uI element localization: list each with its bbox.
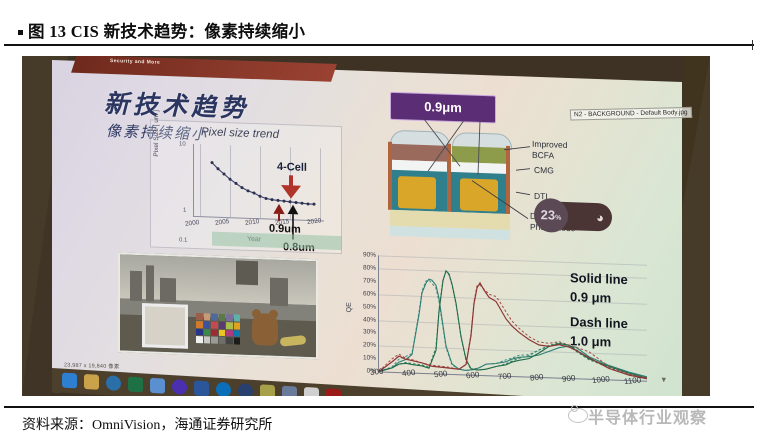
pixel-pitch-badge: 0.9μm [390, 92, 496, 124]
building [270, 278, 288, 307]
pixel-stack [388, 130, 516, 230]
store-icon[interactable] [150, 378, 165, 394]
qe-y-tick-20: 20% [363, 342, 376, 349]
photodiode-left [398, 176, 436, 209]
edge-icon[interactable] [106, 375, 121, 391]
y-tick-0.1: 0.1 [179, 237, 187, 243]
file-explorer-icon[interactable] [84, 374, 99, 390]
battery-percent-value: 23 [541, 207, 555, 223]
excel-icon[interactable] [128, 377, 143, 393]
qe-x-tick-400: 400 [401, 368, 415, 378]
photoshop-icon[interactable] [304, 387, 319, 396]
dti-wall [447, 144, 451, 212]
building [146, 265, 154, 301]
annotation-4cell: 4-Cell [277, 161, 307, 174]
legend-solid-style: Solid line [570, 268, 628, 289]
legend-solid-value: 0.9 μm [570, 287, 628, 308]
x-tick-2005: 2005 [215, 218, 230, 227]
app-icon[interactable] [326, 388, 341, 396]
skype-icon[interactable] [216, 382, 231, 396]
qe-x-tick-900: 900 [561, 373, 575, 383]
page-title: 图 13 CIS 新技术趋势：像素持续缩小 [28, 18, 305, 42]
qe-y-tick-30: 30% [363, 329, 376, 336]
legend-dash-value: 1.0 μm [570, 331, 628, 352]
chart-title: Pixel size trend [201, 126, 279, 141]
color-checker-chart [196, 313, 240, 345]
qe-y-axis-label: QE [346, 302, 353, 312]
start-icon[interactable] [62, 373, 77, 389]
framed-picture-prop [142, 303, 188, 349]
status-overlay-badge: 23% ◕ [538, 201, 612, 232]
wifi-icon: ◕ [596, 210, 604, 226]
qe-y-tick-90: 90% [363, 251, 376, 258]
pixel-cross-section-diagram: 0.9μm [352, 84, 602, 243]
dti-wall [388, 142, 392, 210]
qe-y-tick-70: 70% [363, 277, 376, 284]
qe-y-tick-10: 10% [363, 355, 376, 362]
watermark-text: 半导体行业观察 [588, 404, 707, 428]
watermark-mascot-icon [568, 408, 588, 423]
dti-wall [506, 146, 510, 214]
side-mark [752, 40, 753, 50]
qe-x-tick-800: 800 [529, 372, 543, 382]
battery-percent-circle: 23% [534, 198, 568, 233]
scroll-down-caret-icon[interactable]: ▾ [661, 374, 666, 385]
projection-screen: Security and More 新技术趋势 像素持续缩小 Pixel siz… [52, 60, 682, 396]
title-bullet-icon [18, 30, 23, 35]
x-tick-2020: 2020 [307, 217, 322, 226]
qe-x-tick-1000: 1000 [591, 374, 610, 385]
qe-x-tick-600: 600 [465, 370, 479, 380]
chart-plot-area [193, 144, 324, 222]
label-improved-bcfa: Improved BCFA [532, 139, 567, 161]
x-tick-2000: 2000 [185, 219, 200, 228]
chrome-icon[interactable] [238, 383, 253, 396]
qe-x-tick-500: 500 [433, 369, 447, 379]
window-filename-label: N2 - BACKGROUND - Default Body.jpg [570, 107, 692, 121]
y-tick-1: 1 [183, 208, 186, 214]
label-cmg: CMG [534, 165, 554, 176]
cathedral-tower [236, 260, 258, 285]
slide-photograph: Security and More 新技术趋势 像素持续缩小 Pixel siz… [22, 56, 710, 396]
label-line1: Improved [532, 139, 567, 150]
qe-y-tick-40: 40% [363, 316, 376, 323]
sample-test-photo [118, 252, 318, 359]
slide-heading: 新技术趋势 [104, 84, 249, 125]
label-line2: BCFA [532, 149, 554, 160]
quantum-efficiency-chart: QE 90% 80% 70% 60% 50% 40% 30% 20% 10% 0… [344, 246, 682, 396]
qe-x-tick-300: 300 [369, 367, 383, 377]
battery-percent-unit: % [555, 215, 561, 222]
qe-x-tick-1100: 1100 [623, 375, 641, 386]
y-tick-10: 10 [179, 141, 186, 147]
chart-y-axis-label: Pixel Size [ um ] [153, 110, 160, 157]
building [160, 278, 176, 303]
pixel-pitch-label: 0.9μm [391, 93, 495, 123]
pixel-size-trend-line [194, 144, 324, 221]
qe-x-tick-700: 700 [497, 371, 511, 381]
building [130, 271, 142, 301]
photodiode-right [460, 178, 498, 211]
office-icon[interactable] [260, 384, 275, 396]
qe-legend: Solid line 0.9 μm Dash line 1.0 μm [570, 268, 628, 352]
mail-icon[interactable] [282, 386, 297, 396]
title-divider [4, 44, 754, 46]
qe-y-tick-60: 60% [363, 290, 376, 297]
word-icon[interactable] [194, 380, 209, 396]
x-tick-2010: 2010 [245, 218, 260, 227]
qe-y-tick-80: 80% [363, 264, 376, 271]
teddy-bear-prop [252, 313, 278, 346]
source-note: 资料来源：OmniVision，海通证券研究所 [22, 414, 272, 434]
legend-dash-style: Dash line [570, 312, 628, 333]
qe-y-tick-50: 50% [363, 303, 376, 310]
settings-icon[interactable] [172, 379, 187, 395]
